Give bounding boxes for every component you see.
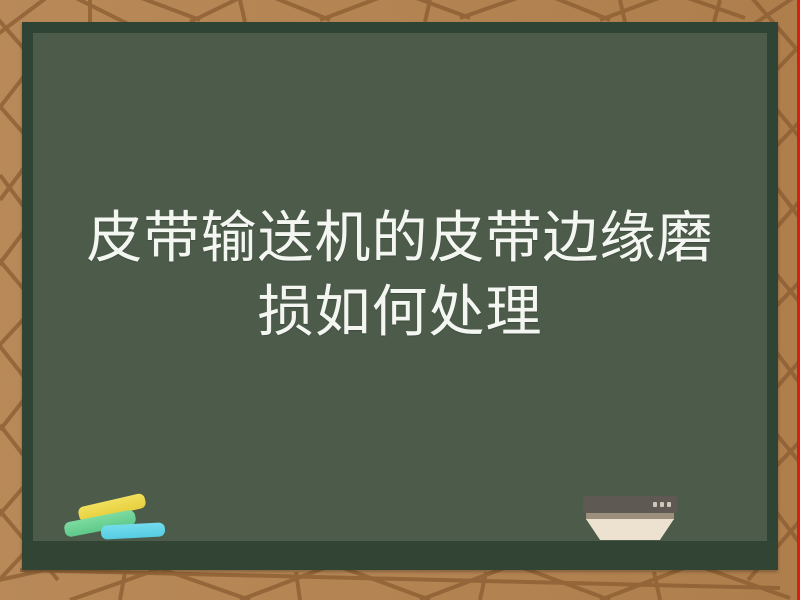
blackboard-eraser: [583, 496, 677, 540]
eraser-dot: [660, 502, 664, 507]
chalkboard-ledge: [22, 541, 778, 570]
eraser-dots: [653, 502, 671, 507]
eraser-handle: [583, 496, 677, 513]
eraser-dot: [667, 502, 671, 507]
chalkboard-graphic: 皮带输送机的皮带边缘磨损如何处理: [0, 0, 800, 600]
eraser-felt: [586, 519, 674, 540]
page-title: 皮带输送机的皮带边缘磨损如何处理: [69, 202, 731, 350]
board-text-area: 皮带输送机的皮带边缘磨损如何处理: [33, 33, 767, 519]
eraser-band: [586, 513, 674, 520]
eraser-dot: [653, 502, 657, 507]
